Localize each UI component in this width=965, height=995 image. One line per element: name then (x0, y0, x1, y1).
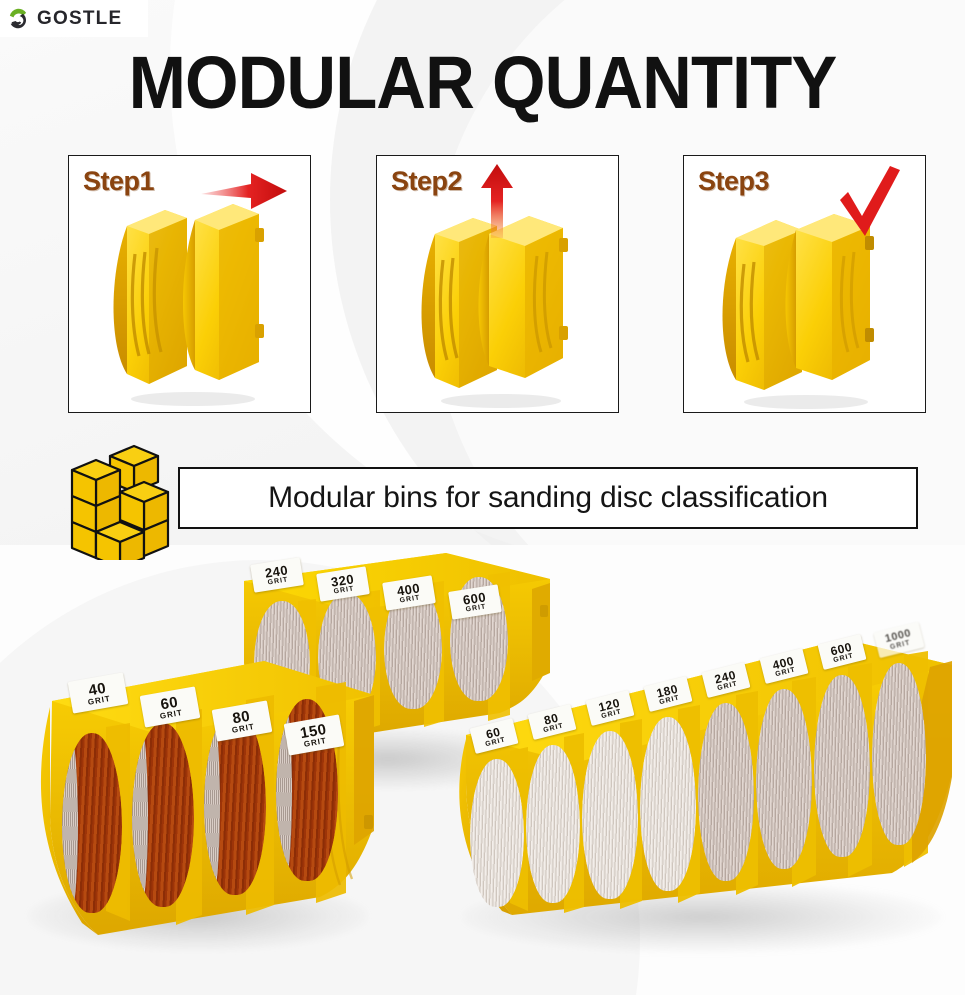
feature-banner: Modular bins for sanding disc classifica… (0, 440, 965, 555)
product-photo-stage: 240 GRIT 320 GRIT 400 GRIT 600 GRIT (0, 545, 965, 995)
disc-stack (470, 759, 524, 907)
feature-caption: Modular bins for sanding disc classifica… (268, 481, 828, 515)
disc-stack (756, 689, 812, 869)
disc-stack (640, 717, 696, 891)
disc-stack (132, 723, 194, 907)
red-arrow-up-icon (477, 162, 517, 242)
disc-stack (62, 733, 122, 913)
step-1-label: Step1 (83, 166, 154, 197)
red-check-icon (834, 164, 904, 242)
step-panel-2: Step2 (376, 155, 619, 413)
red-arrow-right-icon (199, 168, 291, 214)
step-3-label: Step3 (698, 166, 769, 197)
brand-wordmark: GOSTLE (37, 8, 122, 30)
steps-row: Step1 (0, 155, 965, 417)
disc-stack (698, 703, 754, 881)
disc-stack (582, 731, 638, 899)
infographic-page: GOSTLE MODULAR QUANTITY Step1 (0, 0, 965, 995)
disc-stack (814, 675, 870, 857)
feature-text-box: Modular bins for sanding disc classifica… (178, 467, 918, 529)
disc-stack (526, 745, 580, 903)
brand-logo-bar: GOSTLE (0, 0, 148, 37)
right-eight-slot-bin: 60 GRIT 80 GRIT 120 GRIT 180 GRIT 240 GR… (452, 623, 965, 963)
disc-stack (204, 711, 266, 895)
swirl-logo-icon (5, 6, 31, 32)
front-four-slot-bin: 40 GRIT 60 GRIT 80 GRIT 150 GRIT (28, 635, 378, 955)
step-panel-3: Step3 (683, 155, 926, 413)
step-2-label: Step2 (391, 166, 462, 197)
page-title: MODULAR QUANTITY (34, 46, 931, 120)
disc-stack (872, 663, 926, 845)
step-panel-1: Step1 (68, 155, 311, 413)
